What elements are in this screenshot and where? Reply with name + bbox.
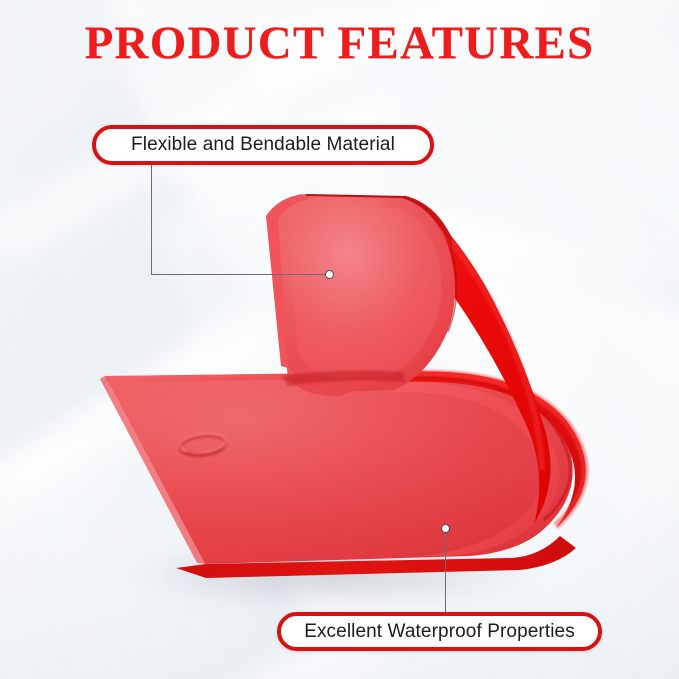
- leader-line-vertical-top: [151, 163, 152, 275]
- leader-line-horizontal-top: [151, 274, 329, 275]
- callout-flexible-bendable[interactable]: Flexible and Bendable Material: [92, 125, 434, 165]
- product-features-infographic: PRODUCT FEATURES: [0, 0, 679, 679]
- callout-label: Flexible and Bendable Material: [131, 134, 395, 156]
- callout-marker-waterproof: [441, 524, 450, 533]
- callout-marker-flexible-bendable: [325, 270, 334, 279]
- leader-line-vertical-bottom: [445, 529, 446, 613]
- product-image-flexible-red-squeegee-blade: [0, 0, 679, 679]
- callout-waterproof[interactable]: Excellent Waterproof Properties: [277, 612, 602, 651]
- upper-flap-gloss: [272, 196, 455, 392]
- callout-label: Excellent Waterproof Properties: [304, 621, 575, 643]
